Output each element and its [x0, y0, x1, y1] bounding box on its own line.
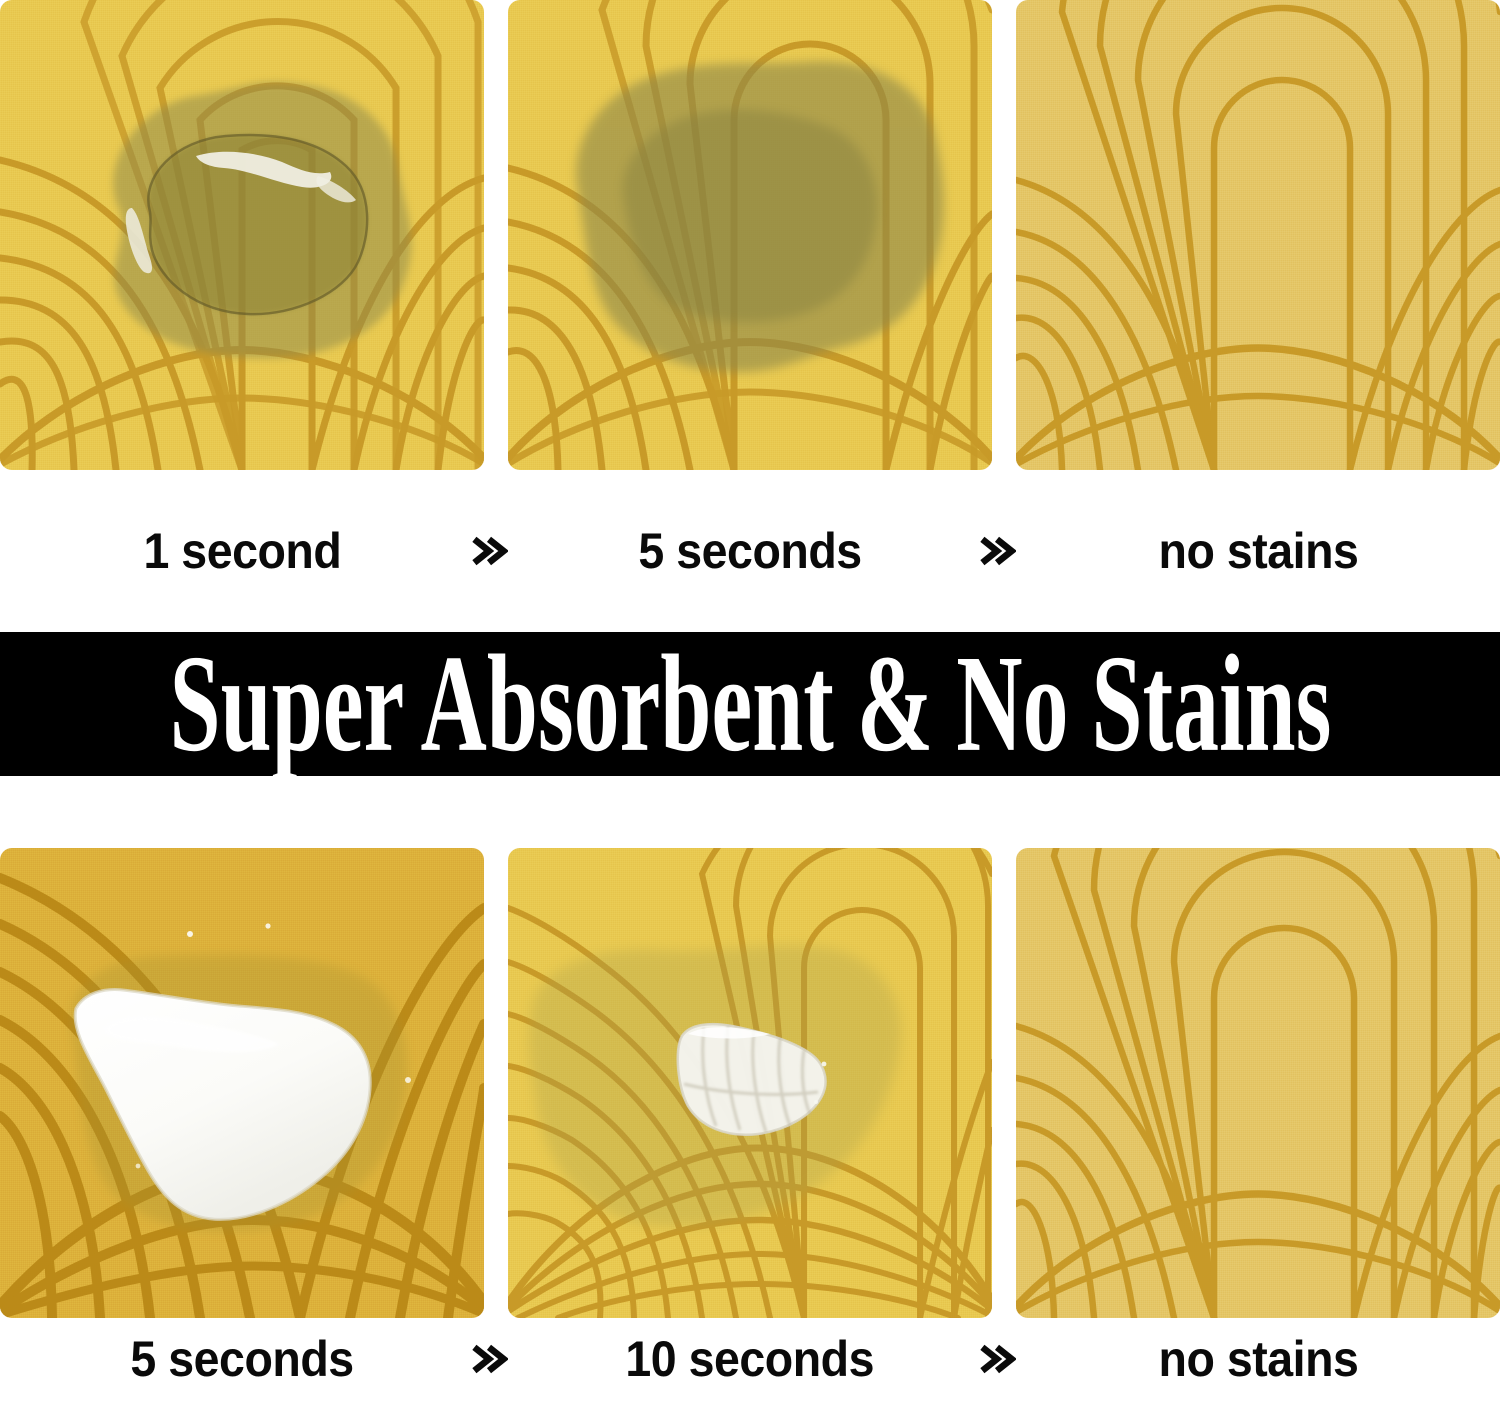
water-test-panel-row — [0, 0, 1500, 470]
arrow-milk-1 — [484, 1334, 508, 1384]
infographic-sheet: 1 second 5 seconds no stains — [0, 0, 1500, 1404]
caption-10-seconds: 10 seconds — [626, 1334, 875, 1384]
headline-banner: Super Absorbent & No Stains — [0, 632, 1500, 776]
milk-test-panel-row — [0, 848, 1500, 1314]
double-chevron-right-icon — [978, 526, 1016, 576]
water-test-caption-row: 1 second 5 seconds no stains — [0, 470, 1500, 632]
panel-milk-no-stains — [1016, 848, 1500, 1318]
caption-cell: no stains — [1016, 1334, 1500, 1384]
arrow-milk-2 — [992, 1334, 1016, 1384]
caption-cell: 5 seconds — [508, 526, 992, 576]
caption-1-second: 1 second — [143, 526, 341, 576]
caption-no-stains-milk: no stains — [1158, 1334, 1358, 1384]
banner-bottom-spacer — [0, 776, 1500, 848]
caption-cell: no stains — [1016, 526, 1500, 576]
arrow-water-1 — [484, 526, 508, 576]
arch-pattern-artwork — [1016, 0, 1500, 470]
caption-5-seconds: 5 seconds — [638, 526, 861, 576]
caption-5-seconds-milk: 5 seconds — [130, 1334, 353, 1384]
panel-water-no-stains — [1016, 0, 1500, 470]
panel-water-5-seconds — [508, 0, 992, 470]
arch-pattern-artwork — [1016, 848, 1500, 1318]
double-chevron-right-icon — [978, 1334, 1016, 1384]
arrow-water-2 — [992, 526, 1016, 576]
panel-milk-10-seconds — [508, 848, 992, 1318]
caption-cell: 10 seconds — [508, 1334, 992, 1384]
panel-milk-5-seconds — [0, 848, 484, 1318]
double-chevron-right-icon — [470, 526, 508, 576]
double-chevron-right-icon — [470, 1334, 508, 1384]
milk-spill-overlay — [0, 848, 484, 1318]
panel-water-1-second — [0, 0, 484, 470]
milk-test-caption-row: 5 seconds 10 seconds no stains — [0, 1314, 1500, 1404]
caption-cell: 5 seconds — [0, 1334, 484, 1384]
caption-cell: 1 second — [0, 526, 484, 576]
headline-text: Super Absorbent & No Stains — [169, 635, 1331, 774]
caption-no-stains: no stains — [1158, 526, 1358, 576]
water-puddle-overlay — [0, 0, 484, 470]
damp-patch-overlay — [508, 0, 992, 470]
milk-residue-overlay — [508, 848, 992, 1318]
